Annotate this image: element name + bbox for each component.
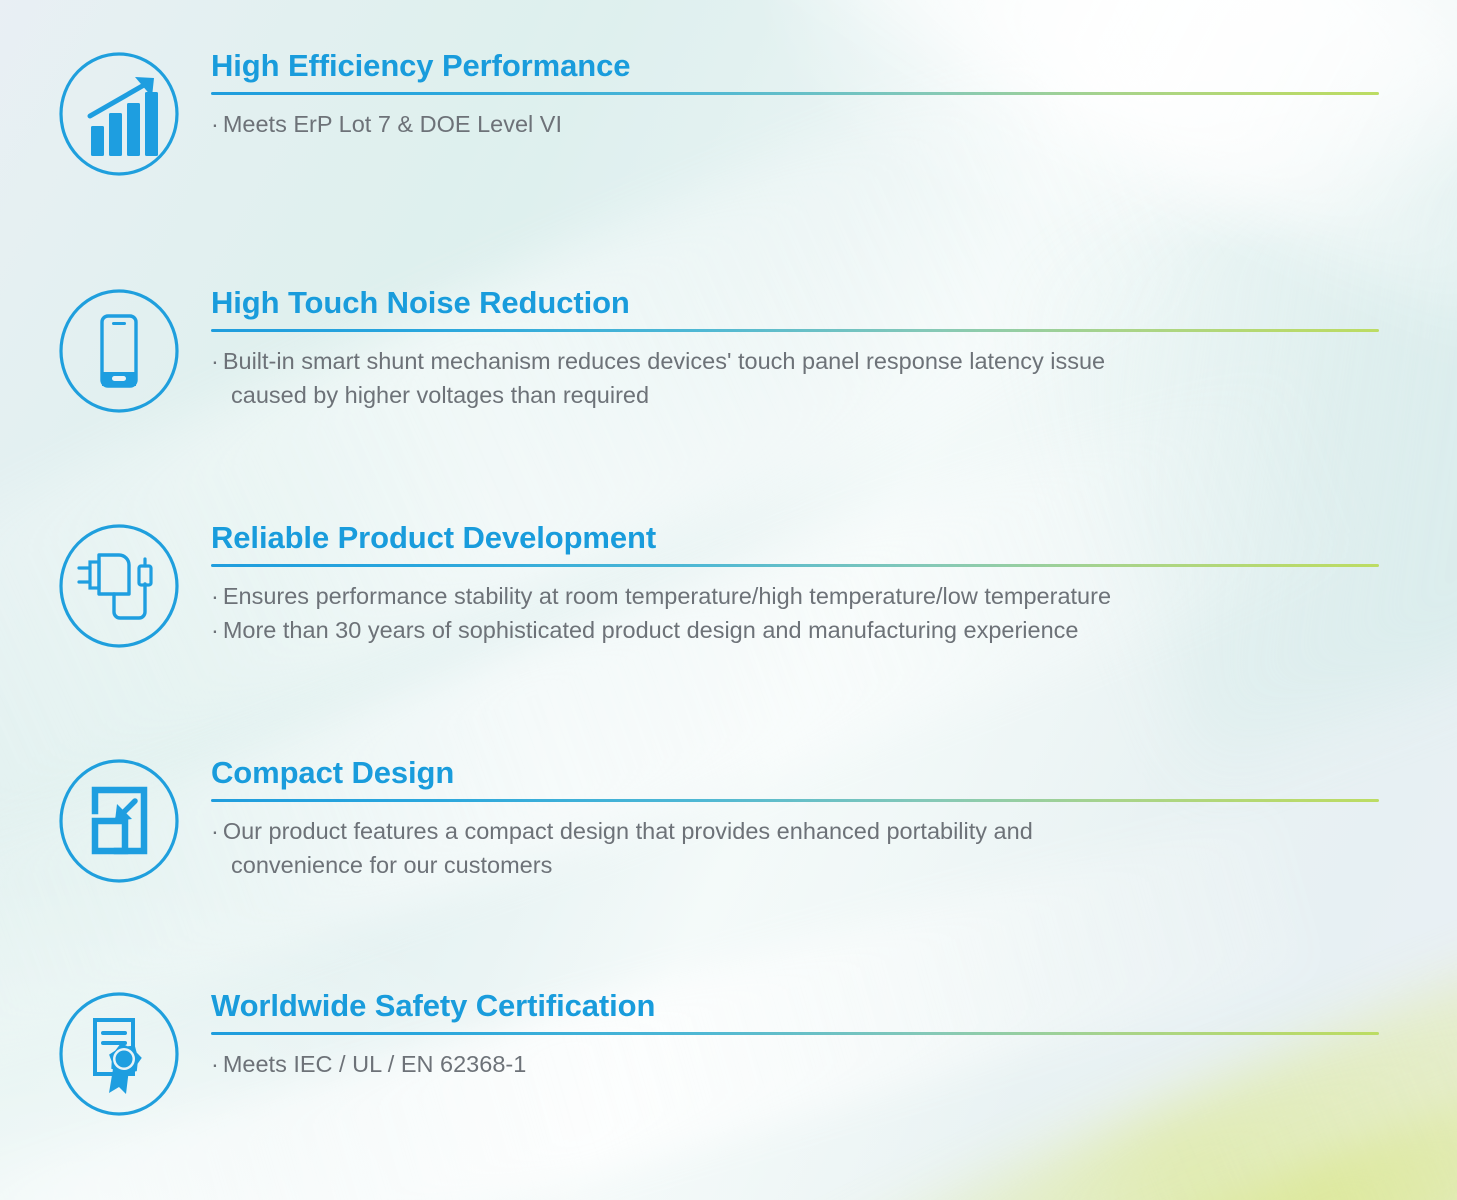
feature-description-line: caused by higher voltages than required (211, 378, 1379, 413)
feature-description: ·Ensures performance stability at room t… (211, 579, 1379, 648)
feature-description-text: Our product features a compact design th… (223, 818, 1033, 844)
feature-description: ·Our product features a compact design t… (211, 814, 1379, 883)
feature-divider (211, 329, 1379, 332)
bullet-marker: · (211, 583, 223, 609)
feature-description-text: More than 30 years of sophisticated prod… (223, 617, 1079, 643)
feature-description: ·Meets IEC / UL / EN 62368-1 (211, 1047, 1379, 1082)
feature-body: High Touch Noise Reduction ·Built-in sma… (211, 287, 1379, 413)
feature-description-text: Meets IEC / UL / EN 62368-1 (223, 1051, 526, 1077)
feature-title: High Touch Noise Reduction (211, 287, 1379, 320)
bullet-marker: · (211, 111, 223, 137)
feature-body: Compact Design ·Our product features a c… (211, 757, 1379, 883)
bullet-marker: · (211, 1051, 223, 1077)
smartphone-icon (57, 287, 181, 415)
feature-highlights-panel: High Efficiency Performance ·Meets ErP L… (0, 0, 1457, 1200)
feature-body: Worldwide Safety Certification ·Meets IE… (211, 990, 1379, 1081)
feature-title: Compact Design (211, 757, 1379, 790)
feature-divider (211, 92, 1379, 95)
feature-description-text: caused by higher voltages than required (231, 382, 649, 408)
feature-title: High Efficiency Performance (211, 50, 1379, 83)
bar-chart-growth-icon (57, 50, 181, 178)
feature-description: ·Built-in smart shunt mechanism reduces … (211, 344, 1379, 413)
feature-description-text: Built-in smart shunt mechanism reduces d… (223, 348, 1105, 374)
feature-divider (211, 1032, 1379, 1035)
feature-title: Worldwide Safety Certification (211, 990, 1379, 1023)
certificate-award-icon (57, 990, 181, 1118)
feature-description-line: ·Built-in smart shunt mechanism reduces … (211, 344, 1379, 379)
feature-title: Reliable Product Development (211, 522, 1379, 555)
feature-divider (211, 564, 1379, 567)
power-adapter-icon (57, 522, 181, 650)
feature-description-line: ·Our product features a compact design t… (211, 814, 1379, 849)
feature-divider (211, 799, 1379, 802)
feature-description-text: Meets ErP Lot 7 & DOE Level VI (223, 111, 562, 137)
bullet-marker: · (211, 348, 223, 374)
feature-description-line: ·Ensures performance stability at room t… (211, 579, 1379, 614)
feature-description-line: ·Meets ErP Lot 7 & DOE Level VI (211, 107, 1379, 142)
bullet-marker: · (211, 617, 223, 643)
feature-description: ·Meets ErP Lot 7 & DOE Level VI (211, 107, 1379, 142)
feature-body: Reliable Product Development ·Ensures pe… (211, 522, 1379, 648)
bullet-marker: · (211, 818, 223, 844)
feature-description-line: ·More than 30 years of sophisticated pro… (211, 613, 1379, 648)
compact-resize-icon (57, 757, 181, 885)
feature-description-text: Ensures performance stability at room te… (223, 583, 1111, 609)
feature-description-line: convenience for our customers (211, 848, 1379, 883)
feature-body: High Efficiency Performance ·Meets ErP L… (211, 50, 1379, 141)
feature-description-line: ·Meets IEC / UL / EN 62368-1 (211, 1047, 1379, 1082)
feature-description-text: convenience for our customers (231, 852, 552, 878)
